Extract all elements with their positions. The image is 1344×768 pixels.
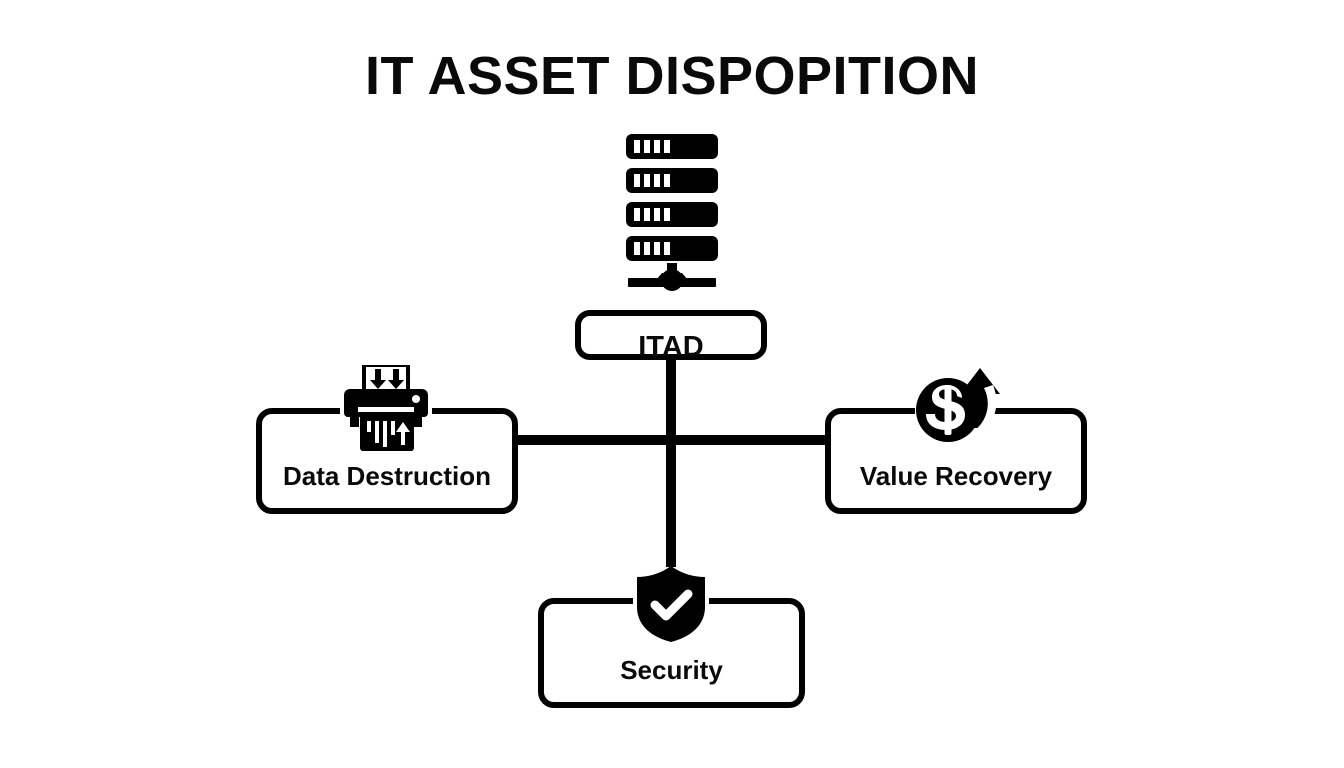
node-data-destruction-label: Data Destruction xyxy=(262,461,512,492)
diagram-canvas: IT ASSET DISPOPITION xyxy=(0,0,1344,768)
shield-check-icon xyxy=(634,564,708,644)
page-title: IT ASSET DISPOPITION xyxy=(0,48,1344,105)
connector-cross-to-security xyxy=(666,443,676,567)
paper-shredder-icon xyxy=(336,365,436,453)
server-rack-icon xyxy=(620,130,724,295)
connector-hub-to-cross xyxy=(666,358,676,442)
node-itad[interactable]: ITAD xyxy=(575,310,767,360)
node-value-recovery-label: Value Recovery xyxy=(831,461,1081,492)
node-security-label: Security xyxy=(544,655,799,686)
dollar-coin-up-arrow-icon xyxy=(912,362,1008,446)
node-itad-label: ITAD xyxy=(581,331,761,364)
